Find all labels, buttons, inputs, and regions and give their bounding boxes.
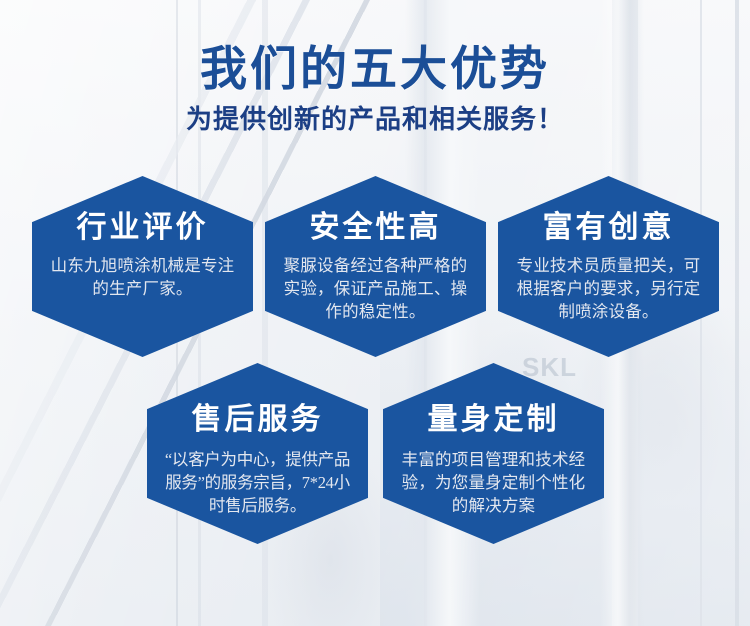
heading-block: 我们的五大优势 为提供创新的产品和相关服务！ [0,44,750,134]
advantage-body: 丰富的项目管理和技术经验，为您量身定制个性化的解决方案 [398,449,590,517]
advantage-hexagon-creative[interactable]: 富有创意 专业技术员质量把关，可根据客户的要求，另行定制喷涂设备。 [498,176,719,357]
advantage-body: 聚脲设备经过各种严格的实验，保证产品施工、操作的稳定性。 [280,255,472,323]
advantage-title: 安全性高 [310,213,442,243]
page-title: 我们的五大优势 [0,44,750,97]
advantage-body: 山东九旭喷涂机械是专注的生产厂家。 [47,255,239,301]
advantage-title: 售后服务 [192,405,324,435]
advantage-hexagon-industry-rating[interactable]: 行业评价 山东九旭喷涂机械是专注的生产厂家。 [32,176,253,357]
advantage-hexagon-after-sales[interactable]: 售后服务 “以客户为中心，提供产品服务”的服务宗旨，7*24小时售后服务。 [147,363,368,544]
advantage-hexagon-high-safety[interactable]: 安全性高 聚脲设备经过各种严格的实验，保证产品施工、操作的稳定性。 [265,176,486,357]
advantages-poster: SKL 我们的五大优势 为提供创新的产品和相关服务！ 行业评价 山东九旭喷涂机械… [0,0,750,626]
advantage-title: 行业评价 [77,213,209,243]
advantage-body: 专业技术员质量把关，可根据客户的要求，另行定制喷涂设备。 [513,255,705,323]
advantage-title: 富有创意 [543,213,675,243]
watermark-logo: SKL [522,352,577,383]
advantage-title: 量身定制 [428,405,560,435]
advantage-body: “以客户为中心，提供产品服务”的服务宗旨，7*24小时售后服务。 [162,449,354,517]
advantage-hexagon-customization[interactable]: 量身定制 丰富的项目管理和技术经验，为您量身定制个性化的解决方案 [383,363,604,544]
page-subtitle: 为提供创新的产品和相关服务！ [0,106,750,135]
